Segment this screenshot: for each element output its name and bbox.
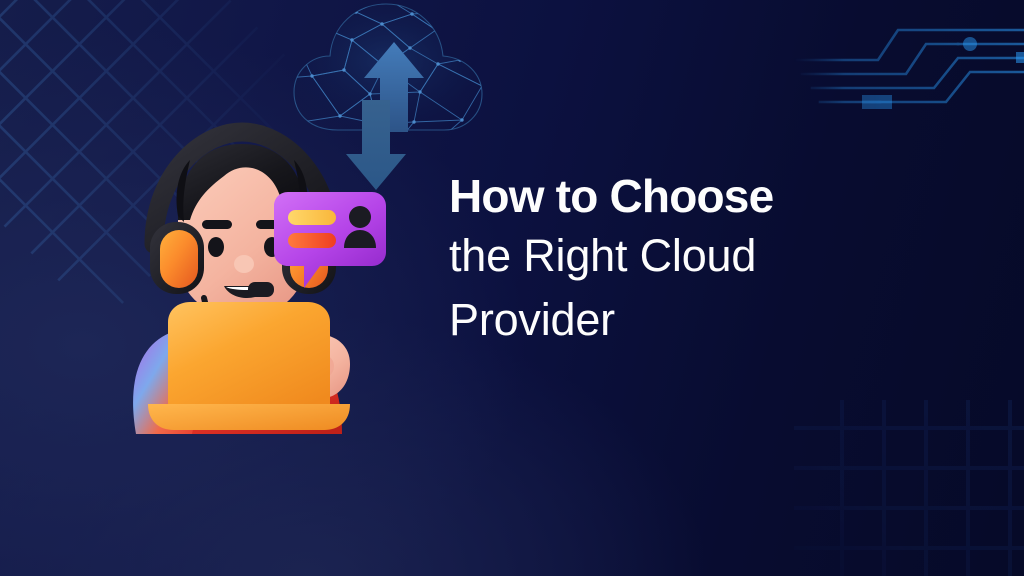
support-agent-with-laptop-illustration: [92, 104, 392, 434]
headline-line-3: Provider: [449, 288, 979, 352]
grid-pattern-bottom-right: [794, 400, 1024, 576]
cloud-provider-banner: How to Choose the Right Cloud Provider: [0, 0, 1024, 576]
chat-bubble-bar-orange: [288, 233, 336, 248]
headphone-earcup-left: [150, 222, 204, 294]
laptop-base: [148, 404, 350, 430]
headphone-mic-tip: [248, 282, 274, 297]
character-eye-left: [208, 237, 224, 257]
laptop-screen: [168, 302, 330, 404]
headline-line-2: the Right Cloud: [449, 224, 979, 288]
headline: How to Choose the Right Cloud Provider: [449, 168, 979, 352]
circuit-trace-pattern-icon: [794, 22, 1024, 157]
character-eyebrow-left: [202, 220, 232, 229]
character-nose: [234, 255, 254, 273]
chat-bubble-bar-yellow: [288, 210, 336, 225]
headline-line-1: How to Choose: [449, 168, 979, 224]
laptop: [148, 302, 350, 430]
chat-bubble-user-head: [349, 206, 371, 228]
